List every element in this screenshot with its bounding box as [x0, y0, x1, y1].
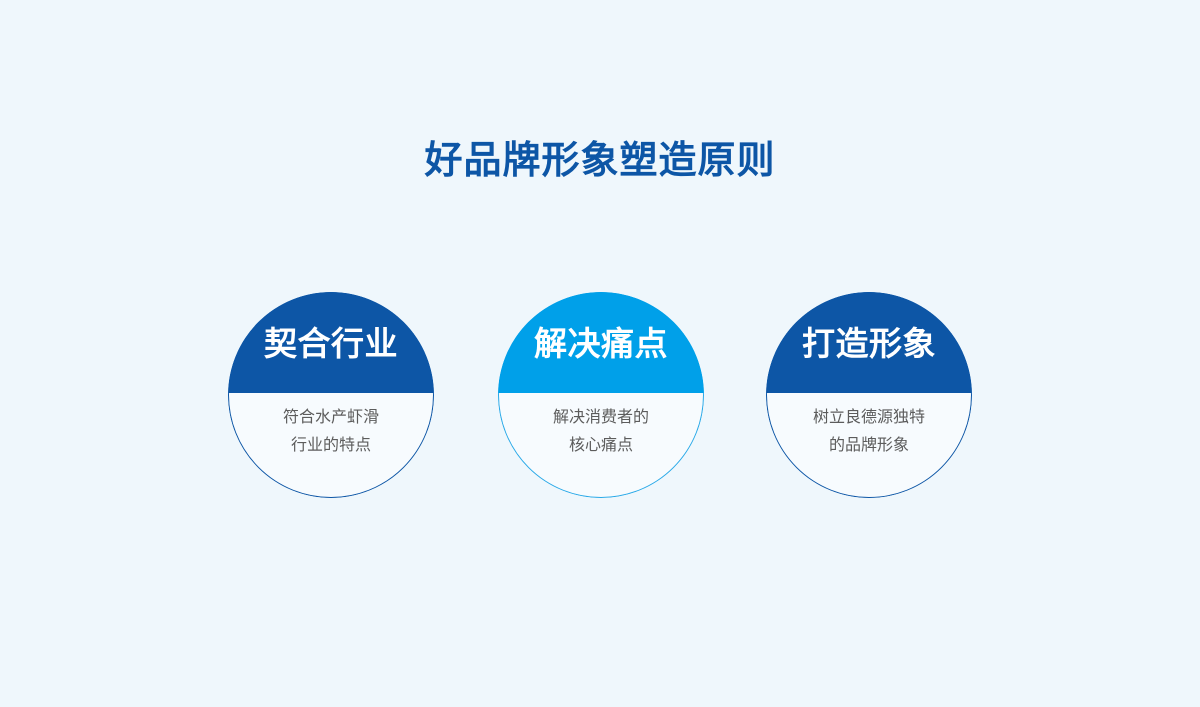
circle-2-description: 解决消费者的 核心痛点	[498, 404, 704, 459]
page-title: 好品牌形象塑造原则	[0, 138, 1200, 186]
principle-circles-group: 契合行业 符合水产虾滑 行业的特点 解决痛点 解决消费者的 核心痛点 打造形象 …	[228, 292, 972, 498]
slide-canvas: 好品牌形象塑造原则 契合行业 符合水产虾滑 行业的特点 解决痛点 解决消费者的 …	[0, 0, 1200, 707]
circle-1-heading: 契合行业	[228, 324, 434, 364]
circle-2-heading: 解决痛点	[498, 324, 704, 364]
circle-2-clip	[498, 292, 704, 498]
circle-3-heading: 打造形象	[766, 324, 972, 364]
circle-3-description: 树立良德源独特 的品牌形象	[766, 404, 972, 459]
principle-circle-1[interactable]: 契合行业 符合水产虾滑 行业的特点	[228, 292, 434, 498]
principle-circle-3[interactable]: 打造形象 树立良德源独特 的品牌形象	[766, 292, 972, 498]
circle-3-clip	[766, 292, 972, 498]
circle-1-clip	[228, 292, 434, 498]
principle-circle-2[interactable]: 解决痛点 解决消费者的 核心痛点	[498, 292, 704, 498]
circle-1-description: 符合水产虾滑 行业的特点	[228, 404, 434, 459]
